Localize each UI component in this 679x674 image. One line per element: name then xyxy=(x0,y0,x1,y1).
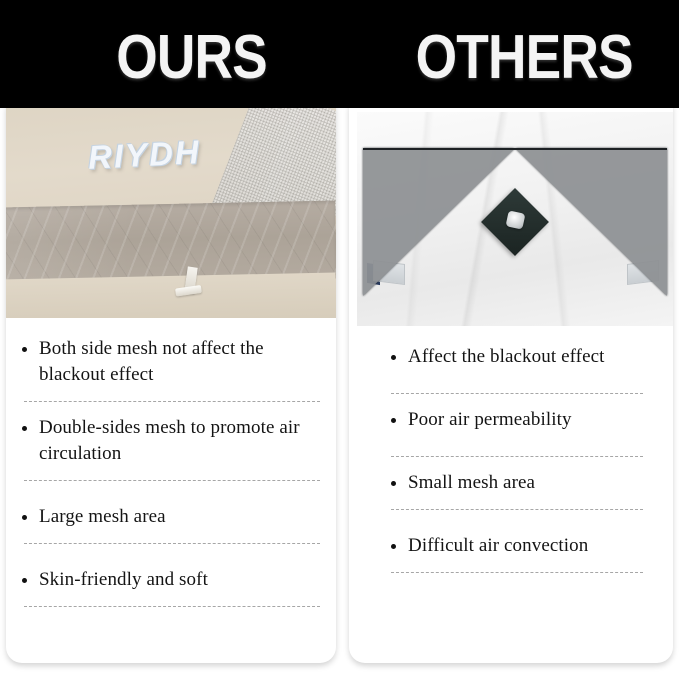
list-item: Large mesh area xyxy=(22,504,322,530)
list-divider xyxy=(391,509,643,510)
header-title-ours: OURS xyxy=(116,27,267,89)
list-item: Both side mesh not affect the blackout e… xyxy=(22,336,322,388)
bullet-icon xyxy=(391,544,396,549)
bullet-icon xyxy=(391,355,396,360)
list-spacer xyxy=(391,370,657,380)
comparison-header: OURS OTHERS xyxy=(0,0,679,108)
comparison-columns: RIYDH Both side mesh not affect the blac… xyxy=(0,104,679,674)
feature-text: Large mesh area xyxy=(39,504,166,530)
list-divider xyxy=(391,456,643,457)
list-divider xyxy=(24,401,320,402)
column-others: Affect the blackout effect Poor air perm… xyxy=(349,104,673,663)
product-photo-others xyxy=(357,112,673,326)
bullet-icon xyxy=(22,578,27,583)
bullet-icon xyxy=(391,418,396,423)
mesh-clip-icon xyxy=(506,210,526,229)
list-divider xyxy=(24,606,320,607)
list-item: Small mesh area xyxy=(391,470,657,496)
feature-list-others: Affect the blackout effect Poor air perm… xyxy=(391,344,657,573)
list-divider xyxy=(24,480,320,481)
mesh-edge-right xyxy=(515,148,667,150)
feature-text: Difficult air convection xyxy=(408,533,588,559)
bullet-icon xyxy=(22,347,27,352)
brand-text: RIYDH xyxy=(87,133,202,177)
column-ours: RIYDH Both side mesh not affect the blac… xyxy=(6,104,336,663)
list-item: Difficult air convection xyxy=(391,533,657,559)
list-item: Affect the blackout effect xyxy=(391,344,657,370)
bullet-icon xyxy=(22,515,27,520)
header-title-others: OTHERS xyxy=(416,27,633,89)
product-photo-ours: RIYDH xyxy=(6,104,336,318)
list-divider xyxy=(24,543,320,544)
tent-lower-panel xyxy=(6,272,336,318)
list-spacer xyxy=(22,494,322,504)
list-spacer xyxy=(391,433,657,443)
list-spacer xyxy=(391,523,657,533)
feature-text: Double-sides mesh to promote air circula… xyxy=(39,415,322,467)
list-divider xyxy=(391,572,643,573)
feature-list-ours: Both side mesh not affect the blackout e… xyxy=(22,336,322,607)
feature-text: Skin-friendly and soft xyxy=(39,567,208,593)
list-item: Poor air permeability xyxy=(391,407,657,433)
list-item: Skin-friendly and soft xyxy=(22,567,322,593)
feature-text: Poor air permeability xyxy=(408,407,572,433)
list-spacer xyxy=(22,557,322,567)
bullet-icon xyxy=(391,481,396,486)
list-divider xyxy=(391,393,643,394)
list-item: Double-sides mesh to promote air circula… xyxy=(22,415,322,467)
feature-text: Small mesh area xyxy=(408,470,535,496)
zipper-pull-icon xyxy=(184,266,198,293)
feature-text: Both side mesh not affect the blackout e… xyxy=(39,336,322,388)
bullet-icon xyxy=(22,426,27,431)
mesh-edge-left xyxy=(363,148,515,150)
feature-text: Affect the blackout effect xyxy=(408,344,605,370)
